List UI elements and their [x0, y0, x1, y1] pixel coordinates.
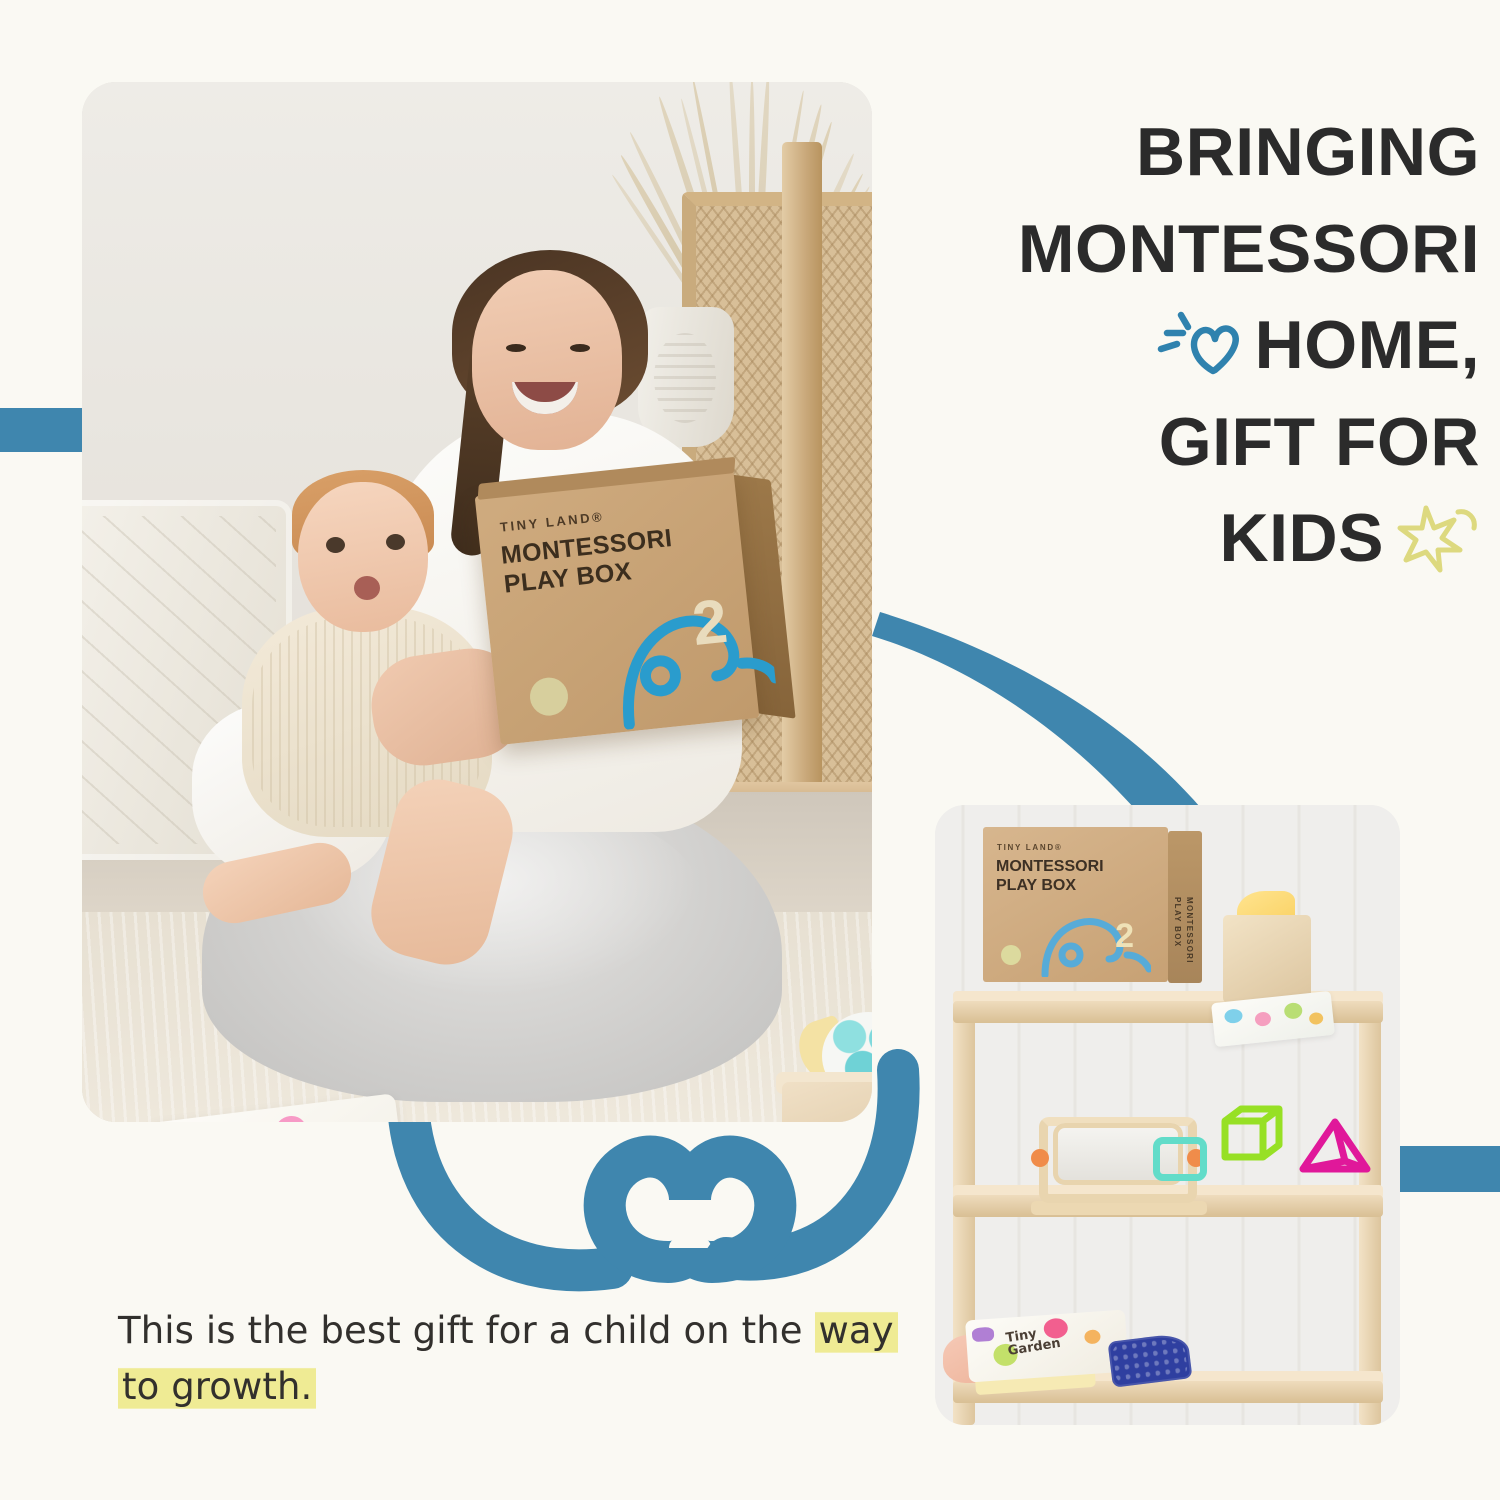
shelf-box-eco-seal: [1001, 945, 1021, 965]
headline-row-4: GIFT FOR: [905, 394, 1480, 491]
geo-cylinder-toy: [1153, 1137, 1207, 1181]
ribbon-heart-loop: [605, 1157, 776, 1262]
roller-knob-left: [1031, 1149, 1049, 1167]
headline-block: BRINGING MONTESSORI HOME, GIFT FOR KIDS: [905, 104, 1480, 587]
blue-knit-cloth: [1107, 1332, 1192, 1387]
mother-eye-right: [570, 344, 590, 352]
headline-row-3: HOME,: [905, 297, 1480, 394]
roller-toy-base: [1031, 1201, 1207, 1215]
shelf-product-photo: TINY LAND® MONTESSORI PLAY BOX MONTESSOR…: [935, 805, 1400, 1425]
headline-line-4: GIFT FOR: [1159, 394, 1480, 491]
box-swirl-graphic: [595, 574, 779, 731]
headline-row-2: MONTESSORI: [905, 201, 1480, 298]
headline-line-3: HOME,: [1255, 297, 1480, 394]
headline-line-5: KIDS: [1220, 490, 1384, 587]
mother-face: [472, 270, 622, 450]
caption-block: This is the best gift for a child on the…: [118, 1303, 908, 1415]
poster-canvas: TINY LAND® MONTESSORI PLAY BOX 2 T: [0, 0, 1500, 1500]
caption-part-1: This is the best gift for a child on the: [118, 1309, 803, 1352]
montessori-play-box-main: TINY LAND® MONTESSORI PLAY BOX 2: [475, 469, 760, 745]
baby-eye-right: [386, 534, 405, 550]
shelf-box-title-line2: PLAY BOX: [996, 877, 1076, 894]
headline-row-5: KIDS: [905, 490, 1480, 587]
baby-face: [298, 482, 428, 632]
mother-eye-left: [506, 344, 526, 352]
ceramic-vase: [638, 307, 734, 447]
main-lifestyle-photo: TINY LAND® MONTESSORI PLAY BOX 2 T: [82, 82, 872, 1122]
geo-cube-toy: [1221, 1105, 1283, 1161]
wooden-block-box: [1223, 915, 1311, 1003]
ribbon-left-swoosh: [408, 1104, 612, 1270]
sparkle-star-icon: [1396, 498, 1480, 574]
shelf-cloth-book-label: Tiny Garden: [1005, 1324, 1062, 1359]
headline-line-2: MONTESSORI: [1018, 201, 1480, 298]
cloth-book-shelf: Tiny Garden: [965, 1309, 1129, 1382]
wooden-toy-box: [782, 1082, 872, 1122]
baby-eye-left: [326, 537, 345, 553]
sparkle-heart-icon: [1157, 309, 1243, 375]
baby-mouth: [354, 576, 380, 600]
shelf-box-side-text: MONTESSORI PLAY BOX: [1171, 897, 1195, 982]
montessori-play-box-shelf: TINY LAND® MONTESSORI PLAY BOX MONTESSOR…: [983, 827, 1168, 982]
headline-row-1: BRINGING: [905, 104, 1480, 201]
shelf-box-brand-label: TINY LAND®: [997, 843, 1062, 852]
bed-post: [782, 142, 822, 862]
headline-line-1: BRINGING: [1136, 104, 1480, 201]
shelf-box-title-line1: MONTESSORI: [996, 858, 1104, 875]
shelf-box-number: 2: [1115, 919, 1134, 953]
geo-pyramid-toy: [1297, 1117, 1373, 1175]
shelf-box-title: MONTESSORI PLAY BOX: [996, 857, 1104, 895]
box-number: 2: [690, 591, 731, 656]
blue-left-bar: [0, 408, 90, 452]
